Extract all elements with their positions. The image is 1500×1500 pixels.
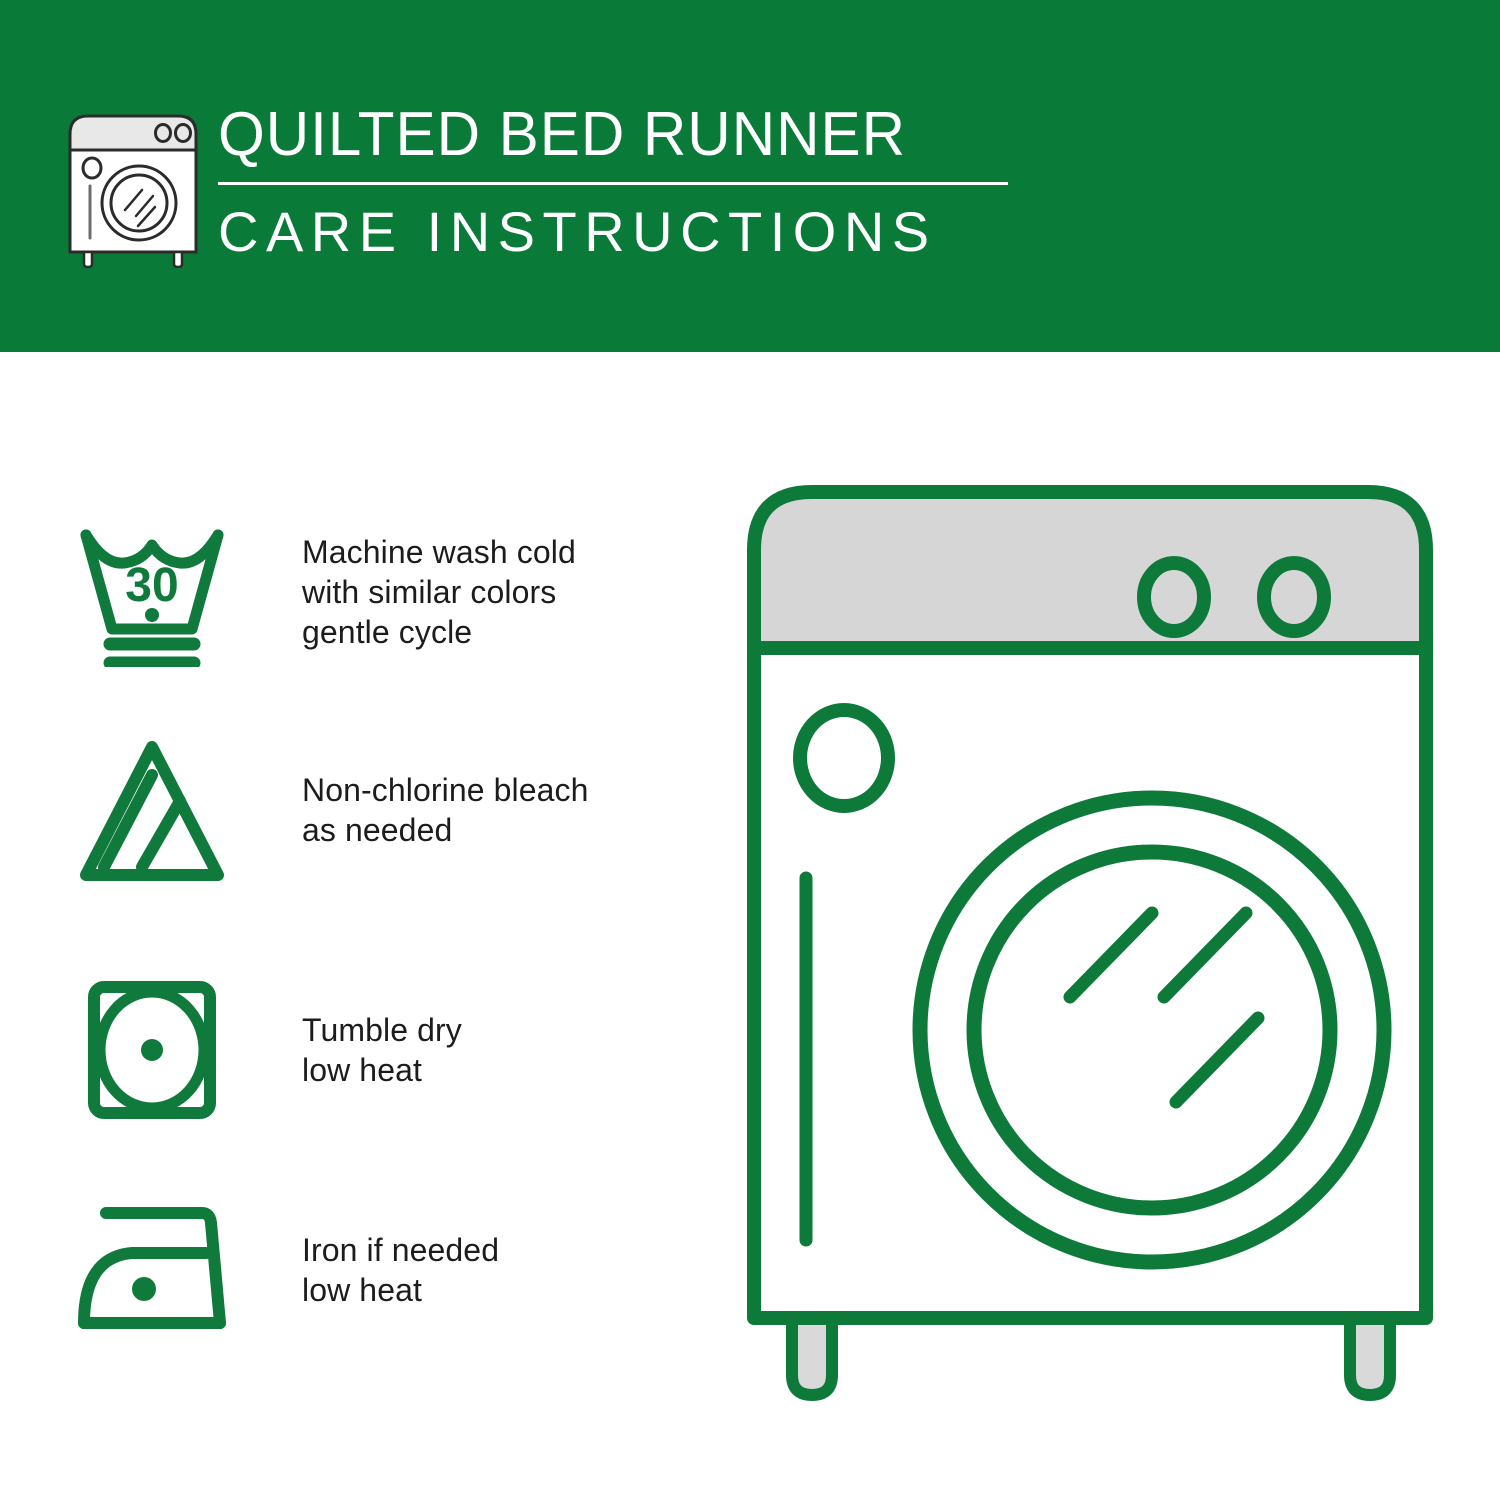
iron-low-heat-symbol (72, 1190, 232, 1350)
care-item-machine-wash-label: Machine wash cold with similar colors ge… (302, 512, 682, 672)
care-line: Machine wash cold (302, 532, 682, 572)
leg-right (1350, 1315, 1390, 1395)
care-instruction-list: 30 Machine wash cold with similar colors… (0, 352, 700, 1500)
care-line: low heat (302, 1270, 682, 1310)
non-chlorine-bleach-triangle-symbol (72, 730, 232, 890)
care-line: Iron if needed (302, 1230, 682, 1270)
large-washing-machine-illustration (740, 470, 1470, 1430)
care-item-bleach: Non-chlorine bleach as needed (0, 730, 700, 890)
wash-temperature-value: 30 (125, 559, 178, 612)
care-item-tumble-dry-label: Tumble dry low heat (302, 970, 682, 1130)
care-item-iron-label: Iron if needed low heat (302, 1190, 682, 1350)
care-item-iron: Iron if needed low heat (0, 1190, 700, 1350)
care-item-bleach-label: Non-chlorine bleach as needed (302, 730, 682, 890)
care-line: Non-chlorine bleach (302, 770, 682, 810)
care-line: with similar colors (302, 572, 682, 612)
care-line: low heat (302, 1050, 682, 1090)
care-line: Tumble dry (302, 1010, 682, 1050)
care-line: gentle cycle (302, 612, 682, 652)
page-title: QUILTED BED RUNNER (218, 98, 994, 172)
control-panel (754, 492, 1426, 648)
tumble-dry-low-heat-symbol (72, 970, 232, 1130)
care-line: as needed (302, 810, 682, 850)
wash-tub-30-gentle-symbol: 30 (72, 512, 232, 672)
leg-left (792, 1315, 832, 1395)
page-subtitle: CARE INSTRUCTIONS (218, 201, 1018, 263)
washing-machine-icon (62, 106, 204, 268)
care-item-tumble-dry: Tumble dry low heat (0, 970, 700, 1130)
title-divider (218, 182, 1008, 185)
header-banner: QUILTED BED RUNNER CARE INSTRUCTIONS (0, 0, 1500, 352)
care-item-machine-wash: 30 Machine wash cold with similar colors… (0, 512, 700, 672)
header-text-block: QUILTED BED RUNNER CARE INSTRUCTIONS (218, 98, 1018, 263)
